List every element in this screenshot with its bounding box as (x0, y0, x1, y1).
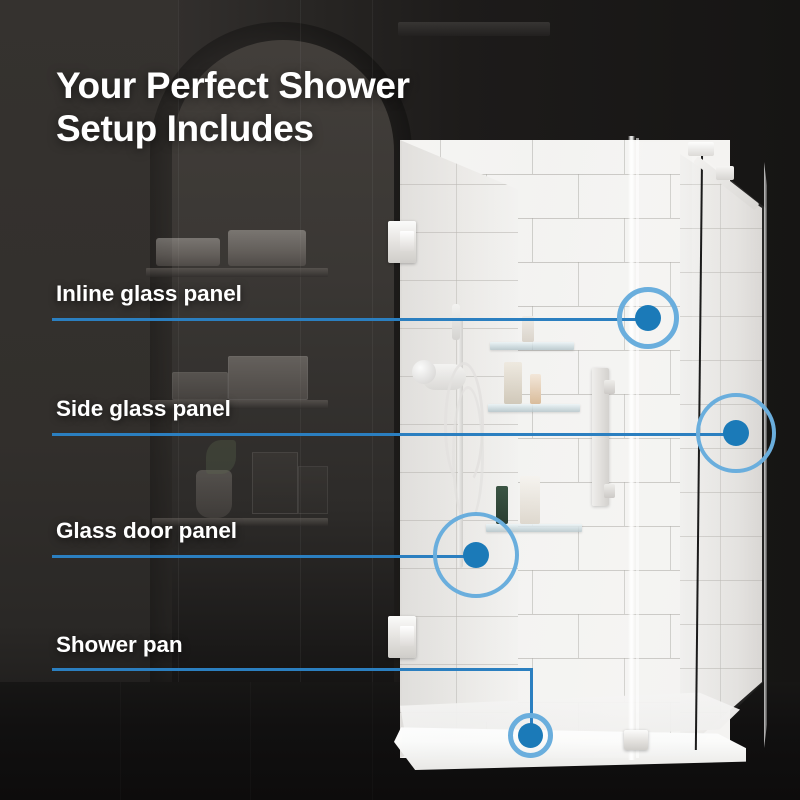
floor-seam-2 (250, 682, 251, 800)
folded-towels-a (156, 238, 220, 266)
connector-shower-pan-horizontal (52, 668, 533, 671)
bottom-glass-clamp (624, 730, 648, 750)
support-bar-clip (716, 166, 734, 180)
door-handle-stub-top (604, 380, 615, 394)
wire-basket-icon (228, 356, 308, 400)
glass-panel-seam (628, 136, 635, 760)
glass-panel-seam-highlight (636, 138, 639, 758)
plant-icon (206, 440, 236, 474)
top-corner-cap (688, 142, 714, 156)
background-shelf-upper (146, 268, 328, 277)
page-title: Your Perfect Shower Setup Includes (56, 64, 410, 151)
promo-graphic: Your Perfect Shower Setup Includes Inlin… (0, 0, 800, 800)
rain-shower-head (398, 22, 550, 36)
picture-frame-small-icon (298, 466, 328, 514)
floor-seam-3 (372, 682, 373, 800)
door-handle-stub-bottom (604, 484, 615, 498)
callout-label-shower-pan: Shower pan (56, 632, 183, 658)
connector-side-glass-panel (52, 433, 736, 436)
picture-frame-icon (252, 452, 298, 514)
hinge-lower (388, 616, 416, 658)
callout-label-side-glass-panel: Side glass panel (56, 396, 231, 422)
folded-towels-b (228, 230, 306, 266)
callout-label-inline-glass-panel: Inline glass panel (56, 281, 242, 307)
floor-seam-1 (120, 682, 121, 800)
hinge-upper (388, 221, 416, 263)
inline-glass-panel (632, 142, 700, 756)
connector-glass-door-panel (52, 555, 476, 558)
plant-vase-icon (196, 470, 232, 518)
connector-inline-glass-panel (52, 318, 648, 321)
callout-label-glass-door-panel: Glass door panel (56, 518, 237, 544)
